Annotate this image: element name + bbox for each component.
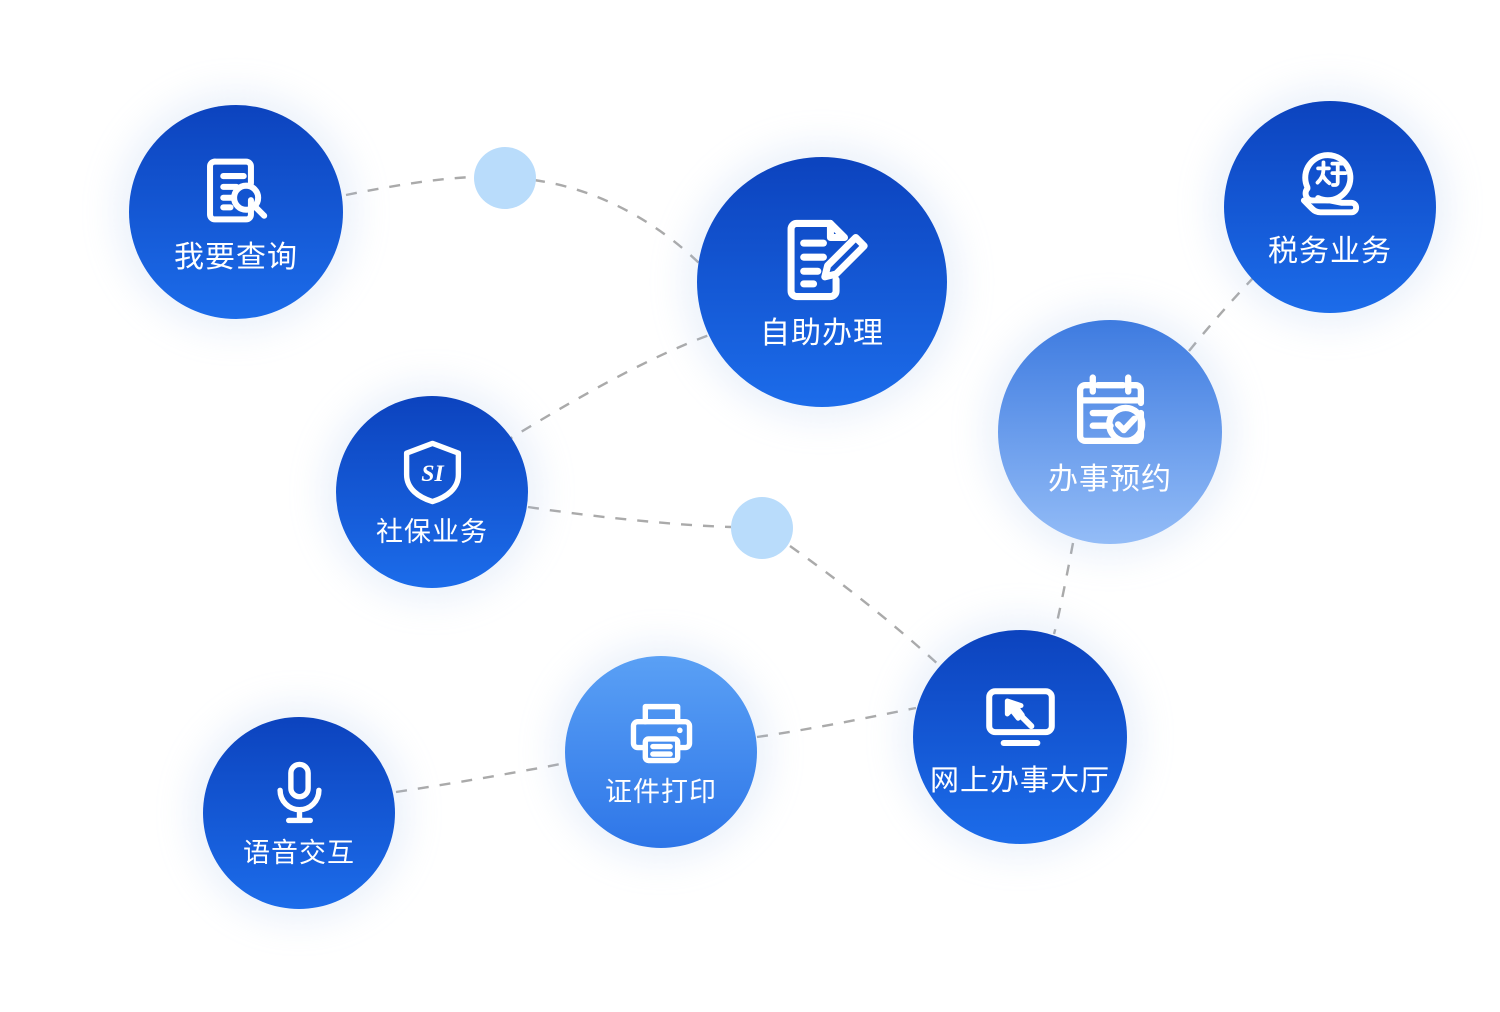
- connector-line: [1054, 543, 1073, 634]
- service-node-label: 办事预约: [1048, 465, 1172, 495]
- connector-line: [346, 177, 478, 195]
- monitor-cursor-icon: [982, 678, 1059, 755]
- shield-si-icon: SI: [398, 438, 467, 507]
- connector-line: [1189, 277, 1254, 351]
- connector-line: [396, 762, 571, 792]
- connector-line: [790, 546, 940, 666]
- service-node-self-service[interactable]: 自助办理: [697, 157, 947, 407]
- service-node-label: 税务业务: [1268, 237, 1392, 267]
- service-node-print[interactable]: 证件打印: [565, 656, 757, 848]
- service-node-label: 证件打印: [605, 779, 717, 806]
- service-node-label: 自助办理: [760, 319, 884, 349]
- tax-hand-icon: [1292, 147, 1368, 223]
- service-node-online-hall[interactable]: 网上办事大厅: [913, 630, 1127, 844]
- calendar-check-icon: [1070, 370, 1151, 451]
- service-network-canvas: 我要查询 自助办理 税务业务 SI: [0, 0, 1500, 1012]
- connector-line: [528, 507, 731, 527]
- svg-text:SI: SI: [421, 461, 444, 487]
- service-node-social-insurance[interactable]: SI 社保业务: [336, 396, 528, 588]
- service-node-label: 我要查询: [174, 243, 298, 273]
- decorative-dot: [731, 497, 793, 559]
- connector-line: [534, 180, 706, 270]
- service-node-label: 社保业务: [376, 519, 488, 546]
- service-node-appointment[interactable]: 办事预约: [998, 320, 1222, 544]
- connector-line: [757, 708, 916, 737]
- service-node-query[interactable]: 我要查询: [129, 105, 343, 319]
- document-search-icon: [198, 152, 275, 229]
- decorative-dot: [474, 147, 536, 209]
- service-node-label: 网上办事大厅: [930, 767, 1110, 796]
- printer-icon: [627, 698, 696, 767]
- service-node-tax[interactable]: 税务业务: [1224, 101, 1436, 313]
- connector-line: [503, 334, 712, 443]
- service-node-label: 语音交互: [243, 840, 355, 867]
- microphone-icon: [265, 759, 334, 828]
- document-edit-icon: [777, 215, 867, 305]
- service-node-voice[interactable]: 语音交互: [203, 717, 395, 909]
